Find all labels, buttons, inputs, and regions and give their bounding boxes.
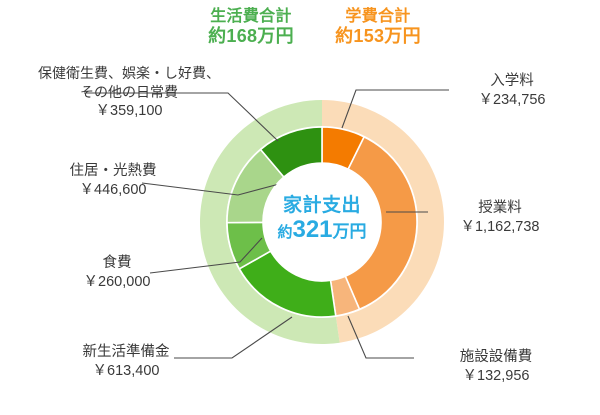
label-startup-fund: 新生活準備金 ￥613,400: [46, 343, 206, 382]
header-living-amount: 約168万円: [188, 26, 314, 46]
center-prefix: 約: [277, 224, 292, 241]
header-living-total: 生活費合計 約168万円: [188, 8, 314, 46]
label-tuitionfee-name: 授業料: [432, 199, 568, 218]
label-health-amount: ￥359,100: [36, 102, 222, 121]
center-unit: 万円: [333, 222, 367, 241]
label-facility-amount: ￥132,956: [418, 367, 574, 386]
label-entrance-amount: ￥234,756: [452, 91, 572, 110]
label-housing-amount: ￥446,600: [38, 181, 188, 200]
header-tuition-total: 学費合計 約153万円: [318, 8, 438, 46]
label-health-name-line1: 保健衛生費、娯楽・し好費、: [36, 64, 222, 83]
label-tuition-fee: 授業料 ￥1,162,738: [432, 199, 568, 238]
header-living-title: 生活費合計: [188, 8, 314, 26]
label-startup-name: 新生活準備金: [46, 343, 206, 362]
center-total-label: 家計支出 約321万円: [262, 196, 382, 243]
label-food: 食費 ￥260,000: [52, 254, 182, 293]
label-housing-name: 住居・光熱費: [38, 162, 188, 181]
label-entrance-fee: 入学料 ￥234,756: [452, 72, 572, 111]
label-housing-utilities: 住居・光熱費 ￥446,600: [38, 162, 188, 201]
center-title: 家計支出: [262, 196, 382, 217]
label-startup-amount: ￥613,400: [46, 362, 206, 381]
label-entrance-name: 入学料: [452, 72, 572, 91]
label-facility-name: 施設設備費: [418, 348, 574, 367]
label-health-name-line2: その他の日常費: [36, 83, 222, 102]
label-food-name: 食費: [52, 254, 182, 273]
center-value: 321: [292, 216, 332, 243]
label-facility-fee: 施設設備費 ￥132,956: [418, 348, 574, 387]
label-tuitionfee-amount: ￥1,162,738: [432, 218, 568, 237]
label-health-other: 保健衛生費、娯楽・し好費、 その他の日常費 ￥359,100: [36, 64, 222, 121]
header-tuition-title: 学費合計: [318, 8, 438, 26]
label-food-amount: ￥260,000: [52, 273, 182, 292]
center-amount: 約321万円: [262, 217, 382, 243]
header-tuition-amount: 約153万円: [318, 26, 438, 46]
donut-chart-figure: 学費合計 約153万円生活費合計 約168万円 入学料 ￥234,756授業料 …: [0, 0, 600, 415]
